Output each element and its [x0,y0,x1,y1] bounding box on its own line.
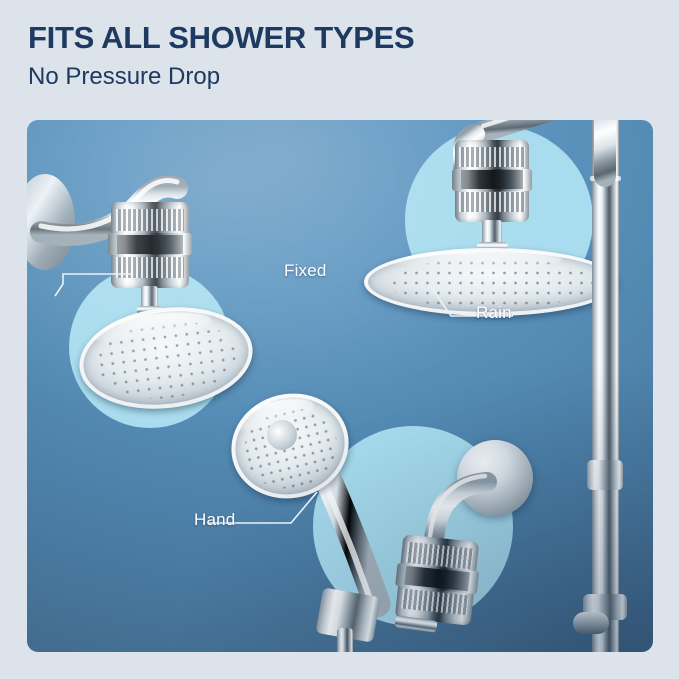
callout-label-fixed: Fixed [284,261,327,281]
header: FITS ALL SHOWER TYPES No Pressure Drop [28,22,648,90]
callout-label-hand: Hand [194,510,235,530]
product-infographic: FITS ALL SHOWER TYPES No Pressure Drop [0,0,679,679]
callout-leader-lines [27,120,653,652]
product-photo: Fixed Rain Hand [27,120,653,652]
page-subtitle: No Pressure Drop [28,64,648,90]
page-title: FITS ALL SHOWER TYPES [28,22,648,55]
callout-label-rain: Rain [476,303,512,323]
